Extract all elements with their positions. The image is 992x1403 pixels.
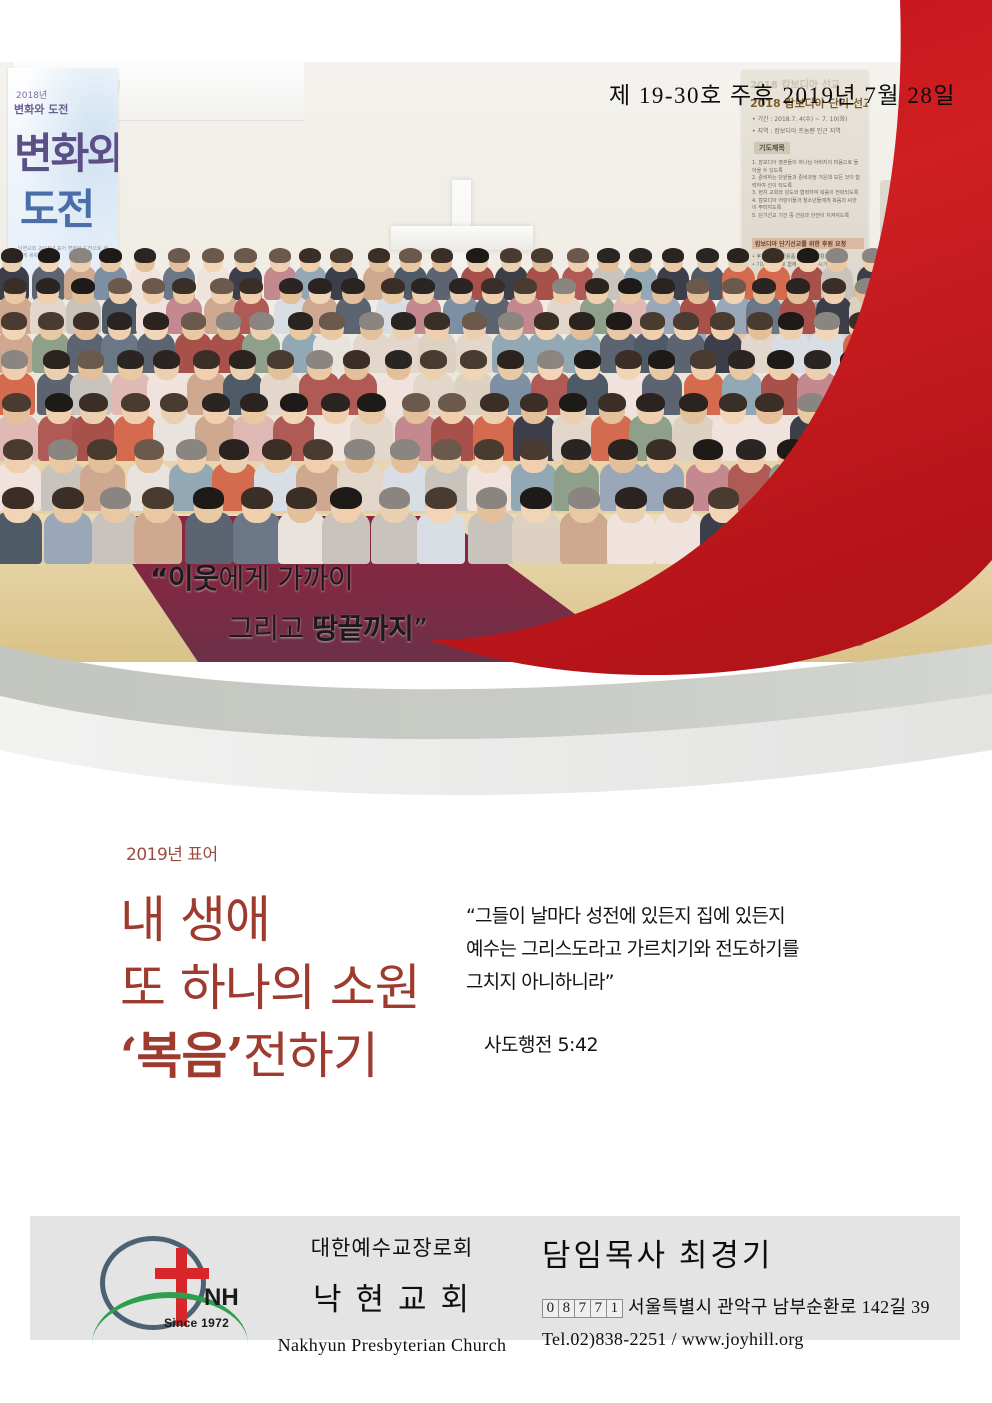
crowd-person-hair	[728, 350, 755, 368]
crowd-person-hair	[569, 312, 594, 329]
banner-year-text: 2018년	[16, 88, 47, 101]
issue-date-line: 제 19-30호 주후 2019년 7월 28일	[609, 76, 956, 110]
crowd-person-hair	[43, 350, 70, 368]
crowd-person-hair	[476, 487, 508, 509]
crowd-person-hair	[822, 278, 846, 294]
scripture-verse: “그들이 날마다 성전에 있든지 집에 있든지 예수는 그리스도라고 가르치기와…	[466, 900, 866, 999]
crowd-person-hair	[319, 312, 344, 329]
logo-cross-bar-icon	[155, 1268, 209, 1279]
crowd-person-hair	[662, 248, 684, 263]
motto-line-2: 또 하나의 소원	[120, 954, 420, 1022]
crowd-person-hair	[160, 393, 189, 413]
crowd-person-hair	[280, 393, 309, 413]
crowd-person-hair	[946, 487, 978, 509]
crowd-person-hair	[466, 248, 488, 263]
crowd-person-hair	[2, 393, 31, 413]
motto-label: 2019년 표어	[126, 840, 218, 865]
crowd-person-hair	[568, 487, 600, 509]
crowd-person-hair	[537, 350, 564, 368]
logo-since-text: Since 1972	[164, 1316, 229, 1330]
crowd-person-hair	[474, 439, 504, 460]
crowd-person-hair	[240, 393, 269, 413]
postal-digit: 0	[542, 1299, 559, 1318]
crowd-person-hair	[961, 248, 983, 263]
crowd-person-hair	[585, 278, 609, 294]
crowd-person-hair	[696, 248, 718, 263]
crowd-person-hair	[142, 278, 166, 294]
crowd-person-hair	[948, 439, 978, 460]
crowd-person-hair	[390, 439, 420, 460]
crowd-person-hair	[849, 312, 874, 329]
crowd-person-hair	[460, 350, 487, 368]
crowd-person-hair	[142, 487, 174, 509]
crowd-person-hair	[357, 393, 386, 413]
crowd-person-hair	[202, 248, 224, 263]
church-footer: NH Since 1972 대한예수교장로회 낙현교회 Nakhyun Pres…	[30, 1216, 960, 1340]
crowd-person-hair	[153, 350, 180, 368]
motto-line-3-rest: 전하기	[243, 1027, 378, 1085]
crowd-person-hair	[736, 439, 766, 460]
slogan-line1-bold: “이웃	[150, 562, 218, 595]
crowd-person-hair	[379, 487, 411, 509]
crowd-person-hair	[45, 393, 74, 413]
crowd-person-hair	[172, 278, 196, 294]
crowd-person-hair	[424, 312, 449, 329]
crowd-person-hair	[598, 393, 627, 413]
crowd-person-hair	[269, 248, 291, 263]
crowd-person-hair	[117, 350, 144, 368]
crowd-person-hair	[99, 248, 121, 263]
crowd-person-hair	[299, 248, 321, 263]
crowd-person-hair	[241, 487, 273, 509]
crowd-person-hair	[520, 393, 549, 413]
crowd-person-hair	[956, 312, 981, 329]
crowd-person-hair	[121, 393, 150, 413]
crowd-person-hair	[679, 393, 708, 413]
crowd-person-hair	[432, 439, 462, 460]
crowd-person-hair	[391, 312, 416, 329]
crowd-person-hair	[308, 278, 332, 294]
crowd-person-hair	[567, 248, 589, 263]
crowd-person-hair	[651, 278, 675, 294]
crowd-person-hair	[747, 312, 772, 329]
crowd-person-hair	[402, 393, 431, 413]
crowd-person-hair	[552, 278, 576, 294]
scripture-line-1: “그들이 날마다 성전에 있든지 집에 있든지	[466, 900, 866, 933]
scripture-line-2: 예수는 그리스도라고 가르치기와 전도하기를	[466, 933, 866, 966]
crowd-person-hair	[513, 278, 537, 294]
crowd-person-hair	[708, 487, 740, 509]
crowd-person-hair	[498, 312, 523, 329]
crowd-person-hair	[1, 350, 28, 368]
crowd-person-hair	[953, 350, 980, 368]
crowd-person-hair	[267, 350, 294, 368]
crowd-person-hair	[909, 439, 939, 460]
crowd-person-hair	[202, 393, 231, 413]
crowd-person-hair	[480, 393, 509, 413]
street-address: 서울특별시 관악구 남부순환로 142길 39	[628, 1297, 930, 1317]
crowd-person-hair	[343, 350, 370, 368]
crowd-person-hair	[69, 248, 91, 263]
crowd-person-hair	[519, 439, 549, 460]
crowd-person-hair	[958, 278, 982, 294]
crowd-person-hair	[303, 439, 333, 460]
crowd-person-hair	[462, 312, 487, 329]
crowd-person-hair	[608, 439, 638, 460]
contact-info: 담임목사 최경기 08771서울특별시 관악구 남부순환로 142길 39 Te…	[542, 1230, 942, 1350]
crowd-person-hair	[2, 487, 34, 509]
crowd-person-hair	[210, 278, 234, 294]
crowd-person-hair	[804, 350, 831, 368]
crowd-person-hair	[385, 350, 412, 368]
bulletin-cover-page: 제 19-30호 주후 2019년 7월 28일 2018년 변화와 도전 변화…	[0, 0, 992, 1403]
wooden-pew-back	[740, 524, 872, 538]
crowd-person-hair	[889, 278, 913, 294]
crowd-person-hair	[344, 439, 374, 460]
crowd-person-hair	[719, 393, 748, 413]
speaker-driver-icon	[892, 194, 926, 228]
crowd-person-hair	[615, 487, 647, 509]
crowd-person-hair	[646, 439, 676, 460]
crowd-person-hair	[38, 248, 60, 263]
crowd-person-hair	[411, 278, 435, 294]
crowd-person-hair	[925, 248, 947, 263]
crowd-person-hair	[381, 278, 405, 294]
postal-code: 08771	[542, 1299, 622, 1318]
crowd-person-hair	[219, 439, 249, 460]
crowd-person-hair	[755, 393, 784, 413]
motto-line-3-quoted: ‘복음’	[120, 1026, 243, 1085]
crowd-person-hair	[288, 312, 313, 329]
church-identity: 대한예수교장로회 낙현교회 Nakhyun Presbyterian Churc…	[262, 1232, 522, 1356]
crowd-person-hair	[216, 312, 241, 329]
church-name-en: Nakhyun Presbyterian Church	[262, 1335, 522, 1356]
crowd-person-hair	[330, 487, 362, 509]
crowd-person-hair	[143, 312, 168, 329]
crowd-person-hair	[321, 393, 350, 413]
crowd-person-hair	[79, 393, 108, 413]
year-motto: 내 생애 또 하나의 소원 ‘복음’전하기	[120, 886, 420, 1090]
church-logo: NH Since 1972	[92, 1230, 250, 1330]
crowd-person-hair	[606, 312, 631, 329]
crowd-person-hair	[618, 278, 642, 294]
crowd-person-hair	[797, 393, 826, 413]
crowd-person-hair	[673, 312, 698, 329]
crowd-person-hair	[438, 393, 467, 413]
crowd-person-hair	[615, 350, 642, 368]
crowd-person-hair	[368, 248, 390, 263]
crowd-person-hair	[797, 248, 819, 263]
scripture-line-3: 그치지 아니하니라”	[466, 966, 866, 999]
motto-line-1: 내 생애	[120, 886, 420, 954]
crowd-person-hair	[574, 350, 601, 368]
crowd-person-hair	[629, 248, 651, 263]
crowd-person-hair	[767, 350, 794, 368]
crowd-person-hair	[752, 278, 776, 294]
crowd-person-hair	[640, 312, 665, 329]
crowd-person-hair	[425, 487, 457, 509]
crowd-person-hair	[481, 278, 505, 294]
crowd-person-hair	[497, 350, 524, 368]
crowd-person-hair	[710, 312, 735, 329]
crowd-person-hair	[500, 248, 522, 263]
crowd-person-hair	[71, 278, 95, 294]
crowd-person-hair	[561, 439, 591, 460]
crowd-person-hair	[862, 248, 884, 263]
crowd-person-hair	[832, 393, 861, 413]
address-row: 08771서울특별시 관악구 남부순환로 142길 39	[542, 1293, 942, 1319]
crowd-person-hair	[881, 350, 908, 368]
crowd-person-hair	[951, 393, 980, 413]
crowd-person-hair	[341, 278, 365, 294]
crowd-person-hair	[3, 278, 27, 294]
congregation-photo: 2018년 변화와 도전 변화와 도전 낙현교회 2018년 표어 변화와 도전…	[0, 62, 992, 662]
crowd-person-hair	[818, 439, 848, 460]
crowd-person-hair	[1, 248, 23, 263]
crowd-person-hair	[899, 487, 931, 509]
crowd-person-hair	[663, 487, 695, 509]
denomination-name: 대한예수교장로회	[262, 1232, 522, 1262]
crowd-person-hair	[756, 487, 788, 509]
crowd-person-hair	[193, 487, 225, 509]
crowd-person-hair	[559, 393, 588, 413]
crowd-person-hair	[762, 248, 784, 263]
crowd-person-hair	[399, 248, 421, 263]
crowd-person-hair	[239, 278, 263, 294]
crowd-person-hair	[52, 487, 84, 509]
crowd-person-hair	[249, 312, 274, 329]
crowd-person-hair	[826, 248, 848, 263]
crowd-person-hair	[3, 439, 33, 460]
crowd-person-hair	[636, 393, 665, 413]
crowd-person-hair	[648, 350, 675, 368]
crowd-person-hair	[876, 393, 905, 413]
crowd-person-hair	[597, 248, 619, 263]
crowd-person-hair	[306, 350, 333, 368]
crowd-person-hair	[778, 312, 803, 329]
crowd-person-hair	[727, 248, 749, 263]
slogan-line1-rest: 에게 가까이	[218, 562, 353, 595]
banner-subtitle: 변화와 도전	[14, 101, 68, 117]
crowd-person-hair	[134, 248, 156, 263]
crowd-person-hair	[853, 487, 885, 509]
crowd-person-hair	[922, 312, 947, 329]
crowd-person-hair	[814, 312, 839, 329]
crowd-person-hair	[534, 312, 559, 329]
postal-digit: 8	[558, 1299, 575, 1318]
banner-headline-2: 도전	[20, 176, 93, 237]
crowd-person-hair	[894, 248, 916, 263]
crowd-person-hair	[77, 350, 104, 368]
motto-line-3: ‘복음’전하기	[120, 1022, 420, 1090]
crowd-person-hair	[330, 248, 352, 263]
poster-prayer-header: 기도제목	[754, 142, 790, 154]
crowd-person-hair	[134, 439, 164, 460]
crowd-person-hair	[229, 350, 256, 368]
crowd-person-hair	[866, 439, 896, 460]
crowd-person-hair	[193, 350, 220, 368]
crowd-person-hair	[722, 278, 746, 294]
gray-ribbon-decoration	[0, 600, 992, 820]
senior-pastor-name: 담임목사 최경기	[542, 1230, 942, 1275]
crowd-person-hair	[420, 350, 447, 368]
crowd-person-hair	[107, 312, 132, 329]
crowd-person-hair	[36, 278, 60, 294]
crowd-person-hair	[520, 487, 552, 509]
crowd-person-hair	[359, 312, 384, 329]
postal-digit: 1	[606, 1299, 623, 1318]
postal-digit: 7	[590, 1299, 607, 1318]
crowd-person-hair	[926, 278, 950, 294]
crowd-person-hair	[100, 487, 132, 509]
crowd-person-hair	[48, 439, 78, 460]
crowd-person-hair	[855, 278, 879, 294]
crowd-person-hair	[917, 350, 944, 368]
crowd-person-hair	[87, 439, 117, 460]
banner-headline-1: 변화와	[14, 120, 118, 181]
poster-period: • 기간 : 2018.7. 4(수) ~ 7. 10(화)	[752, 114, 847, 123]
crowd-person-hair	[108, 278, 132, 294]
telephone-website: Tel.02)838-2251 / www.joyhill.org	[542, 1329, 942, 1350]
postal-digit: 7	[574, 1299, 591, 1318]
crowd-person-hair	[431, 248, 453, 263]
crowd-person-hair	[73, 312, 98, 329]
poster-region: • 지역 : 캄보디아 프놈펜 인근 지역	[752, 126, 841, 135]
crowd-person-hair	[889, 312, 914, 329]
poster-prayer-body: 1. 캄보디아 영혼들이 하나님 아버지의 마음으로 돌아올 수 있도록 2. …	[752, 160, 860, 220]
logo-initials: NH	[204, 1284, 239, 1312]
crowd-person-hair	[805, 487, 837, 509]
crowd-person-hair	[531, 248, 553, 263]
crowd-person-hair	[234, 248, 256, 263]
crowd-person-hair	[286, 487, 318, 509]
church-name-ko: 낙현교회	[262, 1274, 522, 1319]
crowd-person-hair	[786, 278, 810, 294]
crowd-person-hair	[279, 278, 303, 294]
crowd-person-hair	[1, 312, 26, 329]
crowd-person-hair	[176, 439, 206, 460]
crowd-person-hair	[840, 350, 867, 368]
crowd-person-hair	[38, 312, 63, 329]
crowd-person-hair	[914, 393, 943, 413]
crowd-person-hair	[777, 439, 807, 460]
crowd-person-hair	[693, 439, 723, 460]
scripture-reference: 사도행전 5:42	[484, 1030, 598, 1057]
crowd-person-hair	[449, 278, 473, 294]
crowd-person-hair	[168, 248, 190, 263]
crowd-person-hair	[686, 278, 710, 294]
crowd-person-hair	[262, 439, 292, 460]
crowd-person-hair	[690, 350, 717, 368]
congregation-crowd	[0, 240, 992, 540]
crowd-person-hair	[181, 312, 206, 329]
